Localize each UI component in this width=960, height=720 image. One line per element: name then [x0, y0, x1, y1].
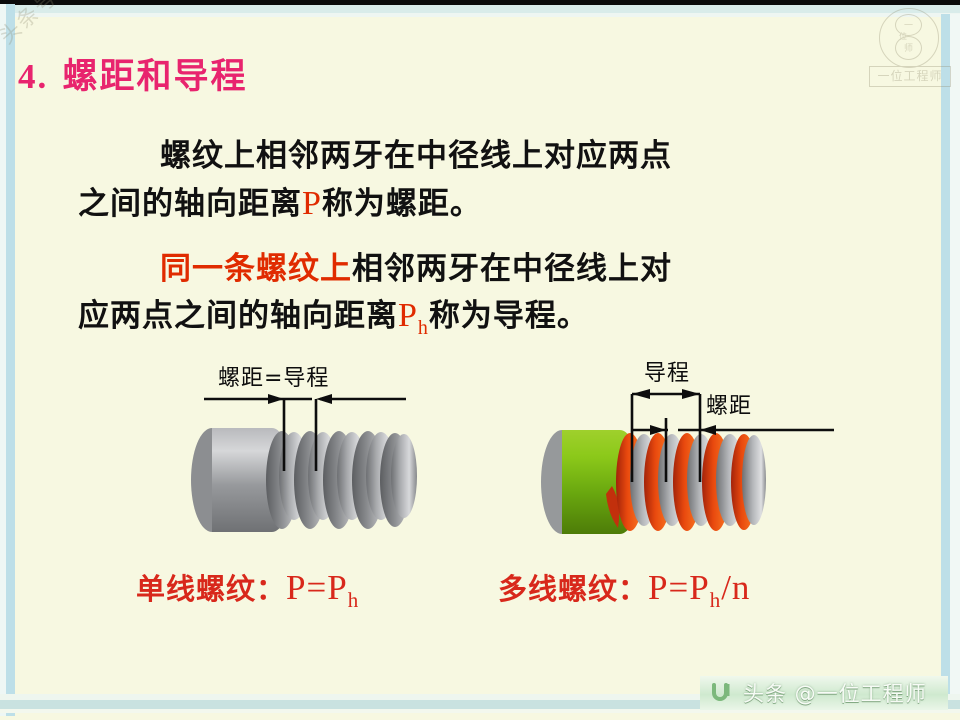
p2-symbol-Ph: Ph — [398, 297, 429, 334]
p2-symbol-P: P — [398, 297, 418, 334]
single-expr-p: P=P — [286, 568, 348, 607]
p1-text-before: 之间的轴向距离 — [78, 186, 302, 222]
paragraph-2-line-2: 应两点之间的轴向距离Ph称为导程。 — [78, 290, 589, 340]
single-expr-sub: h — [348, 588, 360, 612]
title-number: 4. — [18, 57, 48, 96]
p2-highlight: 同一条螺纹上 — [160, 251, 352, 287]
formula-multi-start: 多线螺纹：P=Ph/n — [498, 566, 750, 613]
page-title: 4. 螺距和导程 — [18, 48, 247, 99]
multi-expr-tail: /n — [721, 568, 750, 607]
multi-label: 多线螺纹： — [498, 572, 648, 606]
logo-plate-label: 一位工程师 — [869, 66, 951, 87]
p2-symbol-subscript: h — [418, 317, 429, 339]
toutiao-badge-text: 头条 @一位工程师 — [743, 678, 927, 708]
single-expression: P=Ph — [286, 568, 359, 607]
logo-bottom-char: 师 — [895, 36, 922, 60]
right-accent-strip-2 — [950, 14, 960, 704]
formula-single-start: 单线螺纹：P=Ph — [136, 566, 359, 613]
paragraph-1-line-1: 螺纹上相邻两牙在中径线上对应两点 — [160, 130, 672, 175]
p2-text-after: 称为导程。 — [429, 298, 589, 334]
single-label: 单线螺纹： — [136, 572, 286, 606]
lead-arrow-left — [632, 389, 650, 399]
pitch-arrow-left — [650, 425, 666, 435]
title-text: 螺距和导程 — [62, 57, 247, 97]
lead-arrow-right — [682, 389, 700, 399]
top-accent-strip-2 — [0, 13, 960, 17]
p2-rest: 相邻两牙在中径线上对 — [352, 251, 672, 287]
arrow-right — [316, 394, 332, 404]
multi-expr-p: P=P — [648, 568, 710, 607]
p2-text-before: 应两点之间的轴向距离 — [78, 298, 398, 334]
right-accent-strip — [941, 14, 950, 704]
left-dimension-lines — [200, 385, 410, 495]
pitch-arrow-right — [700, 425, 716, 435]
multi-expr-sub: h — [710, 588, 722, 612]
paragraph-1-line-2: 之间的轴向距离P称为螺距。 — [78, 178, 482, 223]
slide-canvas: 一 位 师 一位工程师 头条号：一位工程师 4. 螺距和导程 螺纹上相邻两牙在中… — [0, 0, 960, 720]
toutiao-watermark-badge: 头条 @一位工程师 — [700, 676, 948, 710]
multi-expression: P=Ph/n — [648, 568, 750, 607]
corner-logo-watermark: 一 位 师 一位工程师 — [866, 6, 952, 88]
paragraph-2-line-1: 同一条螺纹上相邻两牙在中径线上对 — [160, 243, 672, 288]
p1-symbol-P: P — [302, 185, 322, 222]
p1-text-after: 称为螺距。 — [322, 186, 482, 222]
top-accent-strip — [0, 5, 960, 13]
toutiao-icon — [710, 681, 736, 705]
left-accent-strip — [6, 4, 15, 716]
right-dimension-lines — [620, 378, 840, 498]
arrow-left — [268, 394, 284, 404]
